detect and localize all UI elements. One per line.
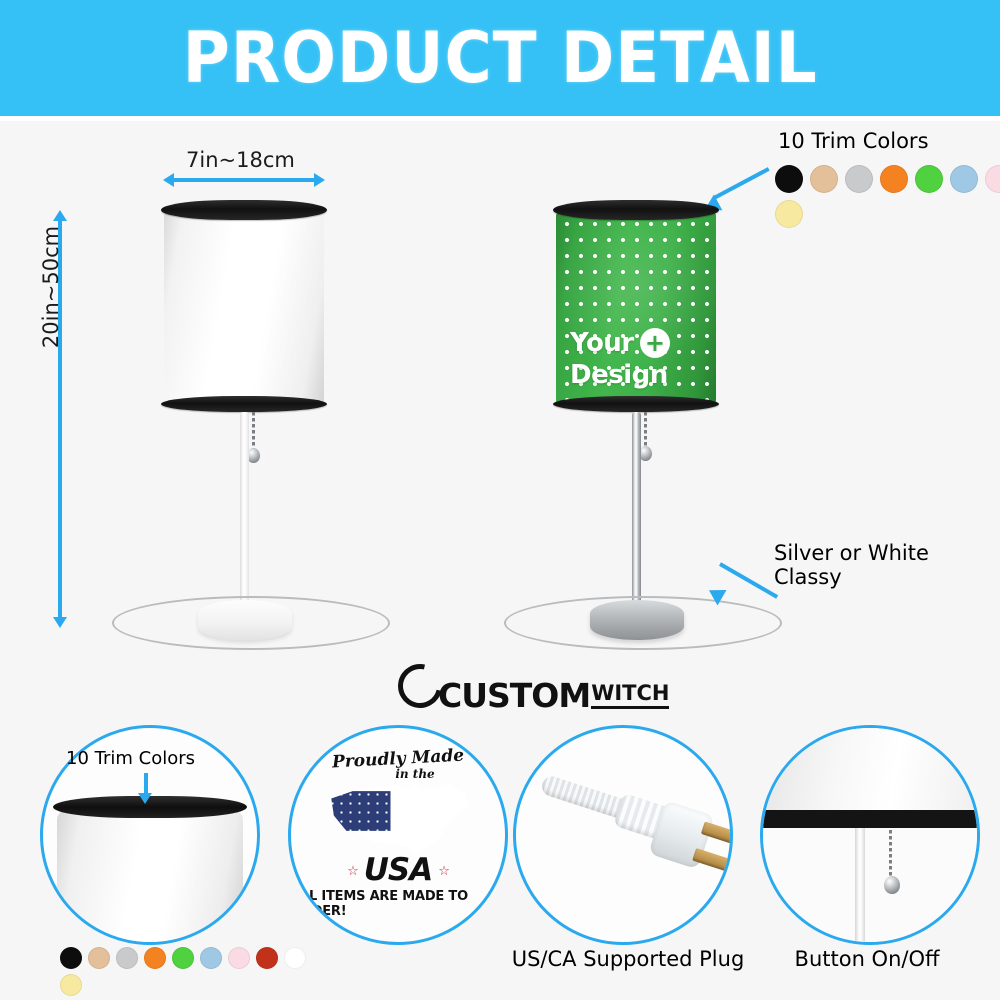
design-line-2: Design [556, 362, 716, 388]
usa-line-2: in the [395, 767, 434, 781]
width-dimension-label: 7in~18cm [186, 148, 295, 172]
swatch-light-gray[interactable] [845, 165, 873, 193]
feature-circle-usa: Proudly Made in the ☆USA☆ ALL ITEMS ARE … [288, 725, 508, 945]
power-cord [112, 596, 390, 650]
swatch-tan[interactable] [88, 947, 110, 969]
lampshade-trim-top [553, 200, 719, 220]
trim-arrow-line [144, 773, 148, 795]
feature-switch: Button On/Off [760, 725, 980, 975]
feature-plug: US/CA Supported Plug [513, 725, 753, 975]
swatch-pale-yellow[interactable] [60, 974, 82, 996]
feature-trim-colors: 10 Trim Colors [40, 725, 260, 995]
lampshade-trim-bottom [553, 396, 719, 412]
swatch-orange[interactable] [144, 947, 166, 969]
lampshade-surface [164, 210, 324, 406]
swatch-pink[interactable] [985, 165, 1000, 193]
width-dimension-arrow [163, 176, 325, 184]
swatch-black[interactable] [60, 947, 82, 969]
header-divider [0, 116, 1000, 121]
swatch-pink[interactable] [228, 947, 250, 969]
product-detail-page: PRODUCT DETAIL 10 Trim Colors 7in~18cm [0, 0, 1000, 1000]
usa-subtitle: ALL ITEMS ARE MADE TO ORDER! [291, 889, 505, 919]
swatch-light-blue[interactable] [200, 947, 222, 969]
feature-circle-plug [513, 725, 733, 945]
star-right-icon: ☆ [438, 864, 449, 879]
brand-logo: CUSTOM WITCH [398, 664, 669, 711]
brand-underline [591, 706, 669, 709]
pull-chain-ball[interactable] [884, 876, 900, 894]
feature-switch-caption: Button On/Off [760, 947, 974, 971]
trim-colors-label-top: 10 Trim Colors [778, 129, 929, 153]
design-line-1: Your [570, 330, 634, 356]
lamp-pole [240, 412, 249, 614]
swatch-orange[interactable] [880, 165, 908, 193]
switch-closeup [763, 728, 977, 942]
plus-circle-icon: + [640, 328, 670, 358]
usa-line-1: Proudly Made [332, 748, 465, 772]
swatch-row-1 [60, 947, 306, 969]
swatch-row-2 [60, 974, 306, 996]
swatch-row-1 [775, 165, 1000, 193]
base-finish-label: Silver or White Classy [774, 541, 1000, 589]
page-title: PRODUCT DETAIL [182, 23, 817, 93]
swatch-dark-red[interactable] [256, 947, 278, 969]
lampshade-trim-top [161, 200, 327, 220]
pull-chain[interactable] [889, 830, 892, 878]
usa-map-flag-icon [323, 781, 473, 859]
swatch-green[interactable] [915, 165, 943, 193]
star-left-icon: ☆ [347, 864, 358, 879]
usa-word-row: ☆USA☆ [341, 855, 455, 886]
design-line-1-row: Your + [556, 328, 716, 358]
power-plug-icon [529, 765, 733, 925]
trim-colors-swatches-top [775, 165, 1000, 235]
swatch-row-2 [775, 200, 1000, 228]
pull-chain[interactable] [252, 412, 255, 450]
swatch-light-blue[interactable] [950, 165, 978, 193]
lampshade-trim-closeup [57, 796, 243, 945]
swatch-white[interactable] [284, 947, 306, 969]
usa-badge: Proudly Made in the ☆USA☆ ALL ITEMS ARE … [291, 728, 505, 942]
lampshade-trim-bottom [161, 396, 327, 412]
swatch-light-gray[interactable] [116, 947, 138, 969]
feature-circle-switch [760, 725, 980, 945]
custom-lampshade[interactable]: Your + Design [556, 200, 716, 412]
page-header: PRODUCT DETAIL [0, 0, 1000, 116]
height-dimension-label: 20in~50cm [39, 212, 63, 362]
swatch-tan[interactable] [810, 165, 838, 193]
white-lampshade [164, 200, 324, 412]
brand-witch-wrap: WITCH [591, 683, 669, 709]
brand-witch: WITCH [591, 683, 669, 704]
lampshade-surface: Your + Design [556, 210, 716, 406]
swatch-green[interactable] [172, 947, 194, 969]
design-placeholder: Your + Design [556, 328, 716, 388]
power-cord [504, 596, 782, 650]
white-lamp [164, 200, 334, 640]
feature-made-in-usa: Proudly Made in the ☆USA☆ ALL ITEMS ARE … [288, 725, 508, 945]
trim-arrow-head [138, 793, 152, 804]
pull-chain[interactable] [644, 412, 647, 448]
feature-trim-label: 10 Trim Colors [66, 748, 195, 769]
feature-plug-caption: US/CA Supported Plug [503, 947, 753, 971]
lamp-pole [632, 412, 641, 614]
trim-colors-swatches-bottom [60, 947, 306, 1000]
base-finish-arrow [700, 548, 790, 604]
brand-custom: CUSTOM [438, 680, 590, 711]
